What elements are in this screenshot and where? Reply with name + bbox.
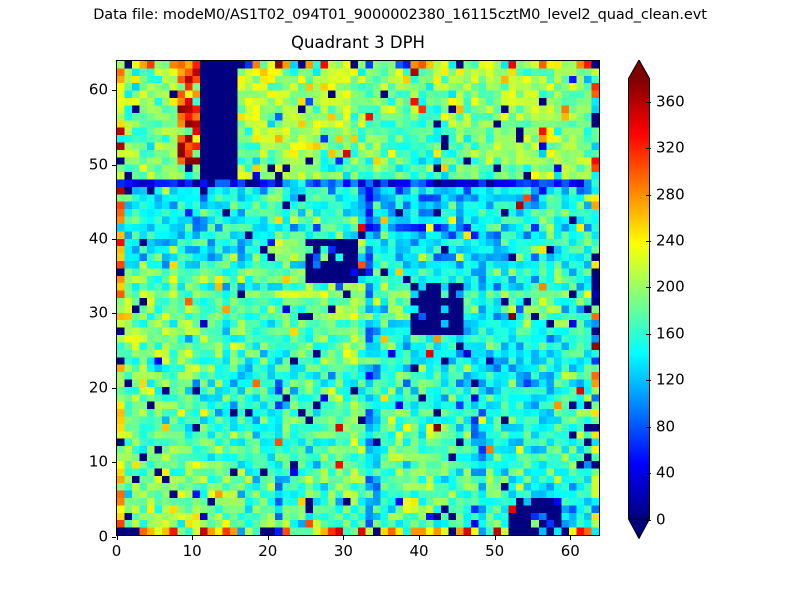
colorbar-tick-mark (646, 380, 651, 381)
x-tick-mark (117, 536, 118, 540)
colorbar-tick-label: 320 (656, 141, 685, 156)
x-tick-label: 10 (183, 544, 202, 559)
plot-title: Quadrant 3 DPH (116, 33, 600, 53)
x-tick-mark (570, 536, 571, 540)
colorbar-tick-label: 120 (656, 373, 685, 388)
colorbar-tick-mark (646, 427, 651, 428)
colorbar-tick-label: 200 (656, 280, 685, 295)
x-tick-label: 0 (112, 544, 122, 559)
colorbar-tick-label: 280 (656, 187, 685, 202)
y-tick-label: 50 (82, 157, 108, 172)
x-tick-label: 20 (258, 544, 277, 559)
colorbar-tick-label: 0 (656, 512, 666, 527)
y-tick-mark (112, 537, 116, 538)
colorbar-tick-mark (646, 195, 651, 196)
colorbar-tick-label: 40 (656, 466, 675, 481)
colorbar-tick-label: 240 (656, 233, 685, 248)
colorbar-tick-mark (646, 148, 651, 149)
y-tick-mark (112, 388, 116, 389)
y-tick-mark (112, 239, 116, 240)
colorbar[interactable] (628, 60, 650, 538)
y-tick-mark (112, 313, 116, 314)
colorbar-tick-label: 360 (656, 94, 685, 109)
y-tick-label: 10 (82, 455, 108, 470)
x-tick-mark (192, 536, 193, 540)
heatmap-axes[interactable] (116, 60, 600, 536)
x-tick-label: 30 (334, 544, 353, 559)
y-tick-mark (112, 90, 116, 91)
heatmap-image[interactable] (117, 61, 599, 535)
y-tick-label: 40 (82, 232, 108, 247)
colorbar-tick-mark (646, 520, 651, 521)
x-tick-label: 50 (485, 544, 504, 559)
colorbar-image (629, 78, 649, 519)
x-tick-mark (495, 536, 496, 540)
colorbar-over-arrow-icon (628, 60, 650, 79)
y-tick-mark (112, 165, 116, 166)
colorbar-tick-mark (646, 241, 651, 242)
x-tick-mark (268, 536, 269, 540)
y-tick-label: 60 (82, 83, 108, 98)
y-tick-mark (112, 462, 116, 463)
x-tick-mark (343, 536, 344, 540)
colorbar-tick-mark (646, 287, 651, 288)
colorbar-gradient[interactable] (628, 78, 650, 519)
x-tick-label: 60 (561, 544, 580, 559)
colorbar-tick-label: 80 (656, 419, 675, 434)
y-tick-label: 20 (82, 380, 108, 395)
x-tick-mark (419, 536, 420, 540)
figure-canvas: Data file: modeM0/AS1T02_094T01_90000023… (0, 0, 800, 600)
y-tick-label: 0 (82, 529, 108, 544)
x-tick-label: 40 (409, 544, 428, 559)
colorbar-tick-mark (646, 102, 651, 103)
data-file-suptitle: Data file: modeM0/AS1T02_094T01_90000023… (0, 6, 800, 24)
colorbar-tick-mark (646, 334, 651, 335)
y-tick-label: 30 (82, 306, 108, 321)
colorbar-under-arrow-icon (628, 518, 650, 539)
colorbar-tick-label: 160 (656, 326, 685, 341)
colorbar-tick-mark (646, 473, 651, 474)
